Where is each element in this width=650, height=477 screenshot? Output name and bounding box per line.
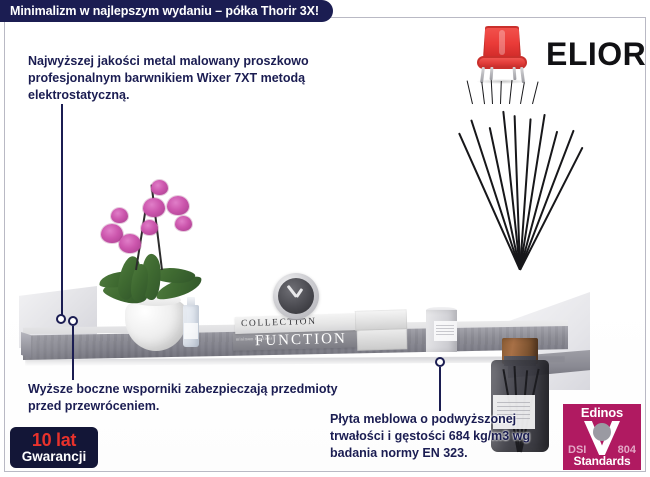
callout-dot-board xyxy=(435,357,445,367)
orchid-bloom xyxy=(119,234,141,253)
decorative-stick xyxy=(520,82,525,104)
shelf-left-endcap xyxy=(21,332,31,358)
orchid-bloom xyxy=(167,196,189,215)
callout-dot-supports-a xyxy=(56,314,66,324)
standards-badge: Edinos DSI 804 Standards xyxy=(563,404,641,470)
decorative-stick xyxy=(532,82,539,105)
note-board-density: Płyta meblowa o podwyższonej trwałości i… xyxy=(330,411,570,462)
warranty-label: Gwarancji xyxy=(22,450,87,465)
product-infographic: COLLECTION minimum functions FUNCTION xyxy=(0,0,650,477)
reed-diffuser xyxy=(475,110,565,360)
decorative-stick xyxy=(500,81,502,104)
orchid-bloom xyxy=(151,180,168,195)
standards-badge-title: Edinos xyxy=(563,405,641,420)
perfume-bottle-label xyxy=(184,323,198,339)
chair-icon xyxy=(466,26,538,88)
standards-badge-circle-icon xyxy=(593,423,611,441)
orchid-bloom xyxy=(111,208,128,223)
diffuser-reeds xyxy=(475,110,565,270)
brand-logo: ELIOR xyxy=(466,26,642,88)
standards-badge-subtitle: Standards xyxy=(563,454,641,468)
callout-dot-supports-b xyxy=(68,316,78,326)
orchid-bloom xyxy=(143,198,165,217)
warranty-badge: 10 lat Gwarancji xyxy=(10,427,98,468)
warranty-years: 10 lat xyxy=(32,431,76,449)
decorative-sticks xyxy=(468,80,548,104)
decorative-stick xyxy=(481,82,485,104)
note-side-supports: Wyższe boczne wsporniki zabezpieczają pr… xyxy=(28,381,348,415)
book-bottom-label: FUNCTION xyxy=(255,331,347,351)
header-title: Minimalizm w najlepszym wydaniu – półka … xyxy=(10,4,319,18)
orchid-bloom xyxy=(141,220,158,235)
decorative-stick xyxy=(509,80,513,104)
header-ribbon: Minimalizm w najlepszym wydaniu – półka … xyxy=(0,0,333,22)
chair-backrest-highlight xyxy=(499,30,505,55)
book-bottom-pages xyxy=(357,327,408,350)
brand-name: ELIOR xyxy=(546,36,646,73)
decorative-stick xyxy=(491,80,494,104)
decorative-stick xyxy=(467,80,474,104)
orchid-bloom xyxy=(175,216,192,231)
book-top-pages xyxy=(355,309,408,331)
leader-line-top xyxy=(61,104,63,315)
diffuser-reed xyxy=(470,119,520,270)
candle-label-text-lines xyxy=(436,325,454,335)
leader-line-board xyxy=(439,367,441,411)
leader-line-bottom-left xyxy=(72,326,74,380)
note-powder-coating: Najwyższej jakości metal malowany proszk… xyxy=(28,53,358,104)
